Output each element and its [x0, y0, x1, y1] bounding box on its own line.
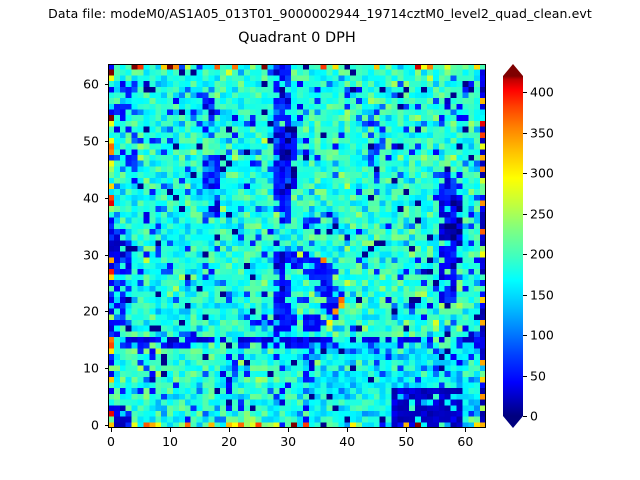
x-tick-label: 10	[162, 434, 178, 449]
colorbar-tick-label: 200	[530, 247, 554, 262]
x-tick-label: 60	[457, 434, 473, 449]
x-tick	[406, 428, 407, 432]
colorbar-tick	[523, 416, 527, 417]
y-tick-label: 0	[91, 418, 99, 433]
colorbar-tick	[523, 173, 527, 174]
y-tick-label: 50	[83, 133, 99, 148]
colorbar-tick-label: 0	[530, 409, 538, 424]
y-tick-label: 30	[83, 247, 99, 262]
x-tick-label: 40	[339, 434, 355, 449]
x-tick-label: 20	[221, 434, 237, 449]
y-tick	[105, 255, 109, 256]
colorbar-tick	[523, 133, 527, 134]
x-tick	[229, 428, 230, 432]
colorbar-tick-label: 50	[530, 368, 546, 383]
y-tick-label: 20	[83, 304, 99, 319]
colorbar-tick-label: 300	[530, 166, 554, 181]
colorbar-tick	[523, 214, 527, 215]
colorbar-tick-label: 100	[530, 328, 554, 343]
heatmap-axes[interactable]: 0102030405060 0102030405060	[108, 64, 486, 428]
x-tick	[170, 428, 171, 432]
dph-heatmap-image[interactable]	[108, 64, 486, 428]
colorbar-gradient	[503, 76, 523, 416]
x-tick	[111, 428, 112, 432]
colorbar-tick-label: 250	[530, 206, 554, 221]
y-tick	[105, 198, 109, 199]
colorbar-extend-high-arrow	[503, 64, 523, 76]
x-tick	[288, 428, 289, 432]
x-tick-label: 0	[107, 434, 115, 449]
colorbar-tick	[523, 254, 527, 255]
colorbar-tick-label: 350	[530, 125, 554, 140]
y-tick	[105, 425, 109, 426]
y-tick-label: 60	[83, 76, 99, 91]
colorbar-tick	[523, 295, 527, 296]
y-tick-label: 40	[83, 190, 99, 205]
y-tick	[105, 311, 109, 312]
x-tick	[465, 428, 466, 432]
figure-canvas: Data file: modeM0/AS1A05_013T01_90000029…	[0, 0, 640, 480]
colorbar-tick	[523, 376, 527, 377]
y-tick	[105, 141, 109, 142]
colorbar-extend-low-arrow	[503, 416, 523, 428]
x-tick	[347, 428, 348, 432]
colorbar-tick	[523, 92, 527, 93]
data-file-label: Data file: modeM0/AS1A05_013T01_90000029…	[0, 6, 640, 21]
x-tick-label: 30	[280, 434, 296, 449]
colorbar[interactable]: 050100150200250300350400	[503, 64, 523, 428]
y-tick-label: 10	[83, 361, 99, 376]
x-tick-label: 50	[398, 434, 414, 449]
y-tick	[105, 84, 109, 85]
plot-title: Quadrant 0 DPH	[108, 30, 486, 46]
colorbar-tick	[523, 335, 527, 336]
y-tick	[105, 368, 109, 369]
colorbar-tick-label: 150	[530, 287, 554, 302]
colorbar-tick-label: 400	[530, 85, 554, 100]
